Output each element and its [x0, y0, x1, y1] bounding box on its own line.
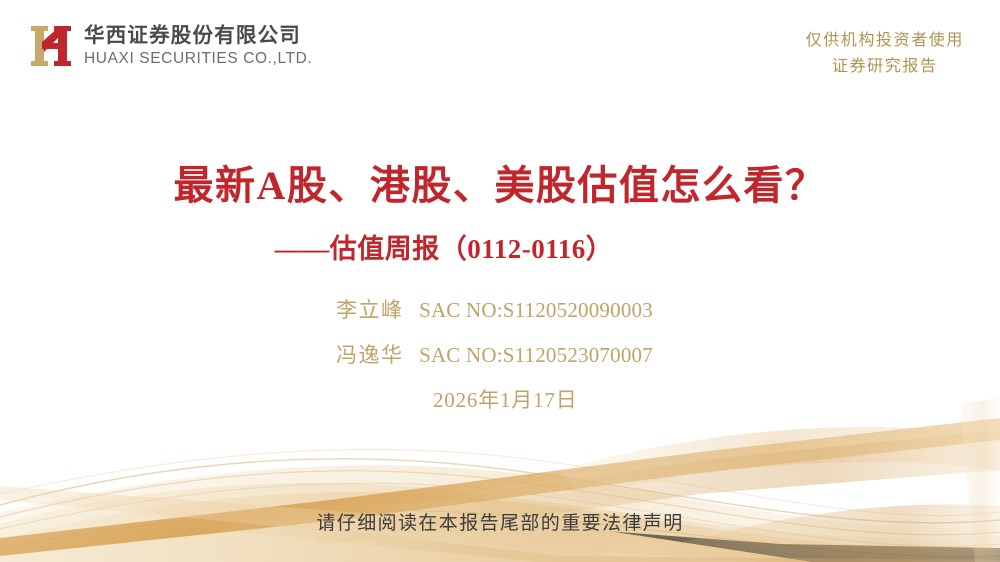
notice-line-research-report: 证券研究报告	[806, 54, 964, 80]
legal-disclaimer-note: 请仔细阅读在本报告尾部的重要法律声明	[0, 508, 1000, 535]
decorative-gold-ribbons	[0, 0, 1000, 562]
author-sac-number: SAC NO:S1120523070007	[419, 343, 653, 367]
author-name: 李立峰	[336, 298, 404, 322]
authors-block: 李立峰 SAC NO:S1120520090003 冯逸华 SAC NO:S11…	[336, 300, 653, 411]
company-name-cn: 华西证券股份有限公司	[84, 26, 312, 47]
author-row: 李立峰 SAC NO:S1120520090003	[336, 300, 653, 321]
subtitle-row: ——估值周报（0112-0116）	[0, 227, 1000, 266]
author-row: 冯逸华 SAC NO:S1120523070007	[336, 345, 653, 366]
company-name-en: HUAXI SECURITIES CO.,LTD.	[84, 51, 312, 67]
author-name: 冯逸华	[336, 343, 404, 367]
report-cover-slide: 华西证券股份有限公司 HUAXI SECURITIES CO.,LTD. 仅供机…	[0, 0, 1000, 562]
company-logo: 华西证券股份有限公司 HUAXI SECURITIES CO.,LTD.	[28, 22, 312, 70]
publication-date: 2026年1月17日	[433, 390, 653, 411]
notice-line-institutional-only: 仅供机构投资者使用	[806, 28, 964, 54]
page-subtitle: ——估值周报（0112-0116）	[275, 234, 614, 264]
author-sac-number: SAC NO:S1120520090003	[419, 298, 653, 322]
page-title: 最新A股、港股、美股估值怎么看？	[0, 163, 1000, 209]
company-logo-text: 华西证券股份有限公司 HUAXI SECURITIES CO.,LTD.	[84, 26, 312, 67]
huaxi-h-monogram-icon	[28, 22, 74, 70]
report-notice: 仅供机构投资者使用 证券研究报告	[806, 28, 964, 81]
title-block: 最新A股、港股、美股估值怎么看？ ——估值周报（0112-0116）	[0, 163, 1000, 266]
